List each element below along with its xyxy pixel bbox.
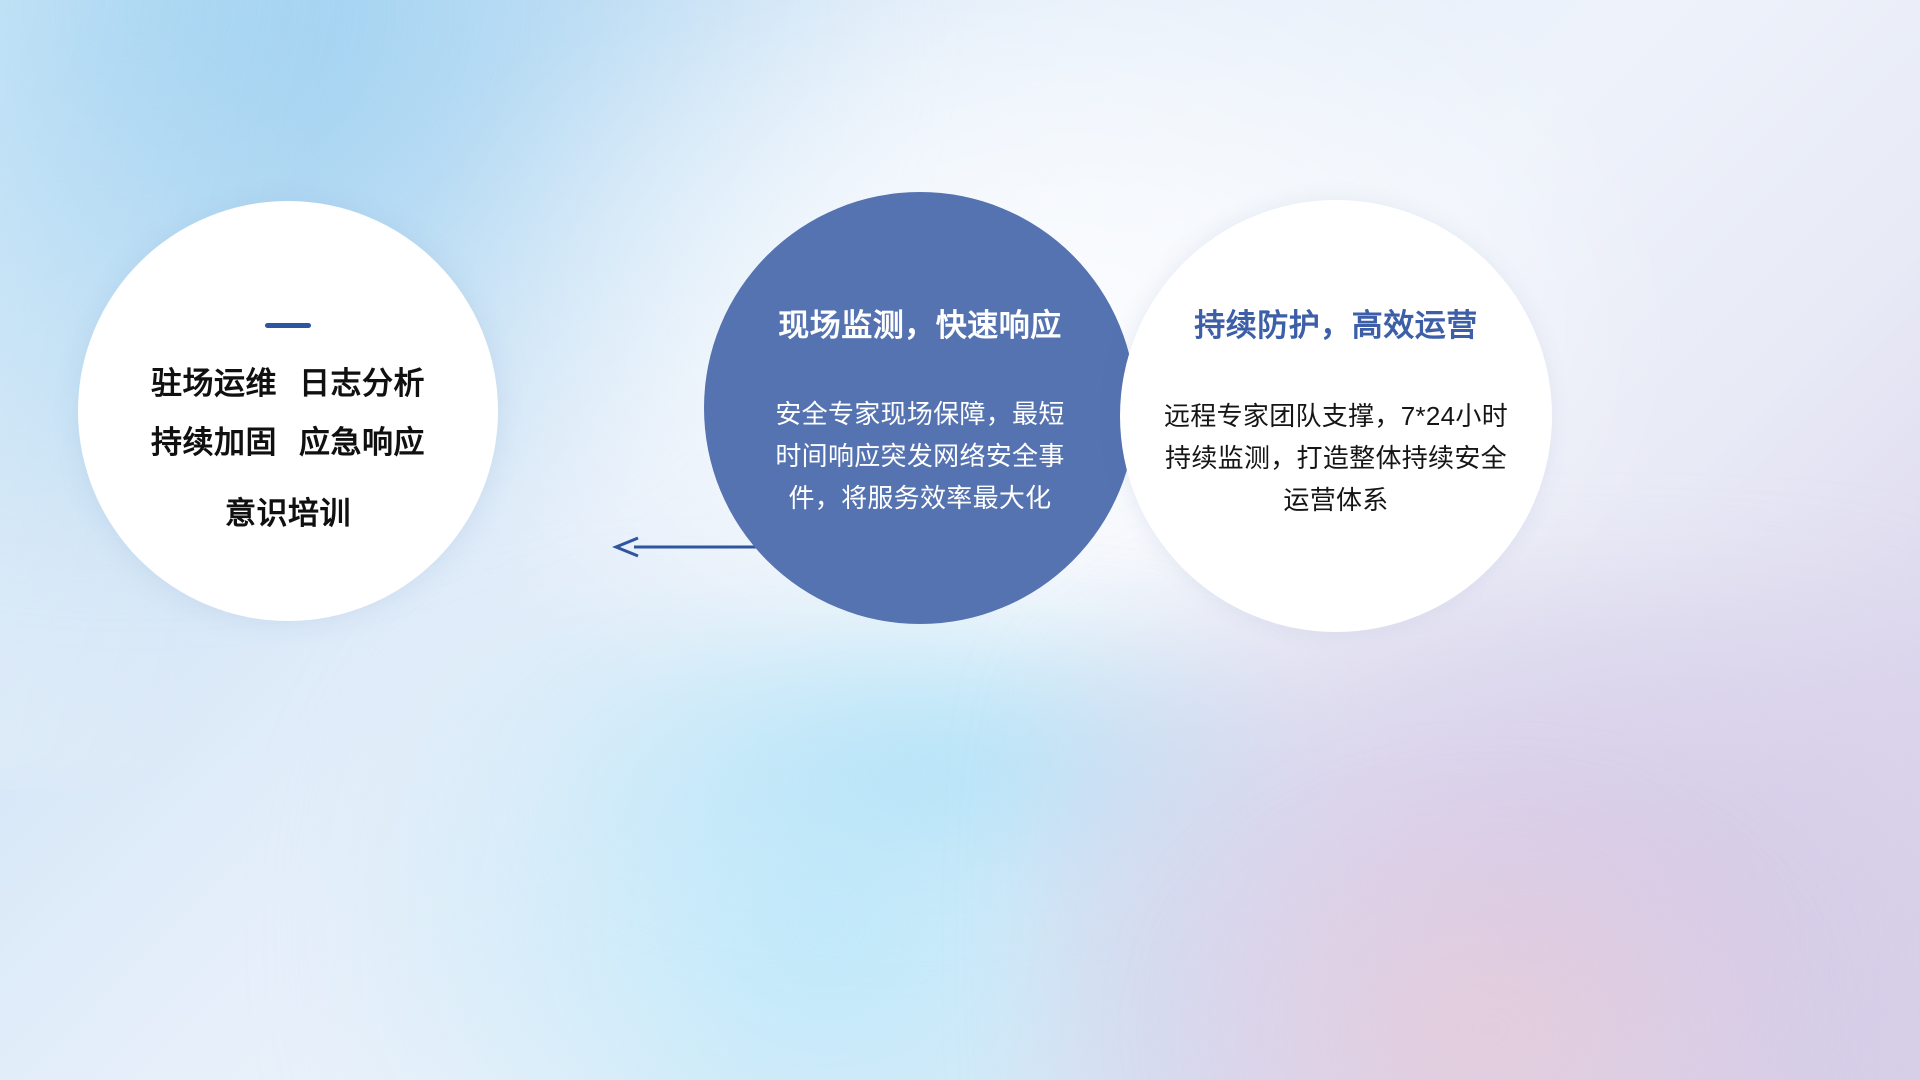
service-tag-awareness-training: 意识培训 [225,496,351,531]
service-tag-log-analysis: 日志分析 [299,366,425,401]
services-circle[interactable]: 驻场运维日志分析 持续加固应急响应 意识培训 [78,201,498,621]
services-line-2: 持续加固应急响应 [151,427,425,458]
service-tag-continuous-hardening: 持续加固 [151,425,277,460]
services-line-1: 驻场运维日志分析 [151,368,425,399]
service-tag-onsite-ops: 驻场运维 [151,366,277,401]
service-tag-emergency-response: 应急响应 [299,425,425,460]
continuous-protection-body: 远程专家团队支撑，7*24小时持续监测，打造整体持续安全运营体系 [1160,395,1512,521]
onsite-monitoring-circle[interactable]: 现场监测，快速响应 安全专家现场保障，最短时间响应突发网络安全事件，将服务效率最… [704,192,1136,624]
services-line-3: 意识培训 [151,498,425,529]
services-list: 驻场运维日志分析 持续加固应急响应 意识培训 [151,368,425,529]
background-glow-pink [1180,800,1800,1080]
horizontal-dash-icon [265,323,311,328]
onsite-monitoring-body: 安全专家现场保障，最短时间响应突发网络安全事件，将服务效率最大化 [767,393,1073,519]
continuous-protection-heading: 持续防护，高效运营 [1194,300,1478,345]
onsite-monitoring-heading: 现场监测，快速响应 [778,300,1062,345]
continuous-protection-circle[interactable]: 持续防护，高效运营 远程专家团队支撑，7*24小时持续监测，打造整体持续安全运营… [1120,200,1552,632]
